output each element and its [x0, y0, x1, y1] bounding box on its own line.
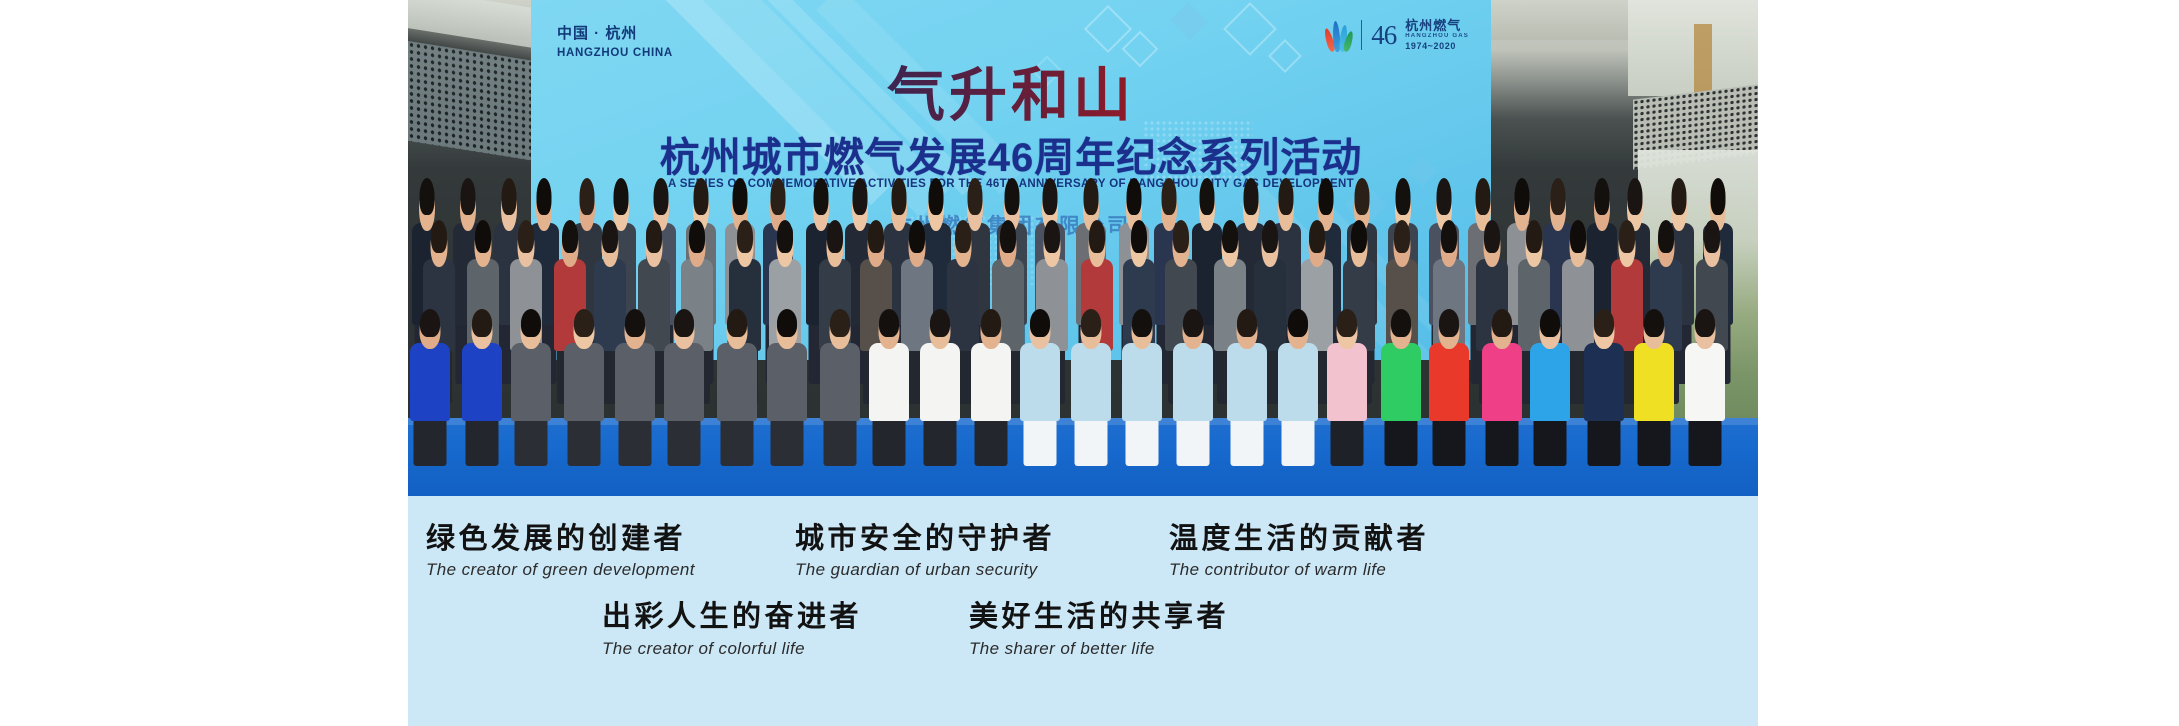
person-torso [1530, 343, 1570, 421]
person [1122, 316, 1162, 466]
person [1482, 316, 1522, 466]
person-hair [1540, 309, 1560, 337]
person-torso [1122, 343, 1162, 421]
person [1530, 316, 1570, 466]
person-torso [1584, 343, 1624, 421]
person-legs [823, 415, 856, 466]
person-legs [924, 415, 957, 466]
person-legs [1384, 415, 1417, 466]
person [920, 316, 960, 466]
person-legs [873, 415, 906, 466]
person-hair [431, 220, 447, 253]
person-hair [1710, 178, 1725, 215]
person-hair [1644, 309, 1664, 337]
deco-square [1170, 2, 1208, 40]
person-legs [1588, 415, 1621, 466]
person-hair [1391, 309, 1411, 337]
person-hair [733, 178, 748, 215]
person-hair [737, 220, 753, 253]
person [1278, 316, 1318, 466]
person-legs [619, 415, 652, 466]
person-torso [1429, 343, 1469, 421]
person-hair [614, 178, 629, 215]
person [1327, 316, 1367, 466]
person-torso [1173, 343, 1213, 421]
banner-location-cn: 中国 · 杭州 [557, 24, 673, 44]
person-hair [1492, 309, 1512, 337]
person-hair [968, 178, 983, 215]
slogan-row-1: 绿色发展的创建者 The creator of green developmen… [408, 496, 1758, 580]
person-legs [515, 415, 548, 466]
person [1381, 316, 1421, 466]
person-legs [1177, 415, 1210, 466]
slogan-cn: 绿色发展的创建者 [426, 522, 776, 555]
slogan-cn: 出彩人生的奋进者 [602, 600, 947, 633]
person-hair [420, 178, 435, 215]
person-hair [1672, 178, 1687, 215]
person-legs [1688, 415, 1721, 466]
slogan-item: 美好生活的共享者 The sharer of better life [969, 600, 1309, 658]
person-torso [564, 343, 604, 421]
person-hair [693, 178, 708, 215]
poster-content: 中国 · 杭州 HANGZHOU CHINA 46 杭州燃气 HANGZHOU … [408, 0, 1758, 726]
person-legs [974, 415, 1007, 466]
person-hair [1278, 178, 1293, 215]
person-hair [602, 220, 618, 253]
person [1227, 316, 1267, 466]
person-torso [1482, 343, 1522, 421]
person-hair [827, 220, 843, 253]
slogan-en: The creator of colorful life [602, 639, 947, 659]
person-hair [1161, 178, 1176, 215]
person-torso [869, 343, 909, 421]
person-hair [579, 178, 594, 215]
person-hair [1173, 220, 1189, 253]
person-hair [1594, 309, 1614, 337]
person-legs [771, 415, 804, 466]
person-hair [1619, 220, 1635, 253]
person-hair [853, 178, 868, 215]
person-hair [777, 220, 793, 253]
person-hair [892, 178, 907, 215]
person-hair [1132, 309, 1152, 337]
person-hair [1441, 220, 1457, 253]
person-legs [466, 415, 499, 466]
person-hair [868, 220, 884, 253]
logo-divider [1361, 20, 1362, 50]
person-hair [1337, 309, 1357, 337]
person-hair [420, 309, 440, 337]
person-hair [1439, 309, 1459, 337]
crowd [408, 156, 1758, 496]
person-hair [1570, 220, 1586, 253]
person-torso [1071, 343, 1111, 421]
person-torso [615, 343, 655, 421]
poster-canvas: 中国 · 杭州 HANGZHOU CHINA 46 杭州燃气 HANGZHOU … [0, 0, 2179, 726]
person-torso [410, 343, 450, 421]
person-hair [653, 178, 668, 215]
person-hair [1436, 178, 1451, 215]
person-hair [574, 309, 594, 337]
slogan-item: 温度生活的贡献者 The contributor of warm life [1169, 522, 1509, 580]
person-torso [1634, 343, 1674, 421]
person [820, 316, 860, 466]
person-hair [1004, 178, 1019, 215]
person-hair [1394, 220, 1410, 253]
person-hair [646, 220, 662, 253]
person-hair [1526, 220, 1542, 253]
person-hair [1243, 178, 1258, 215]
person-hair [1000, 220, 1016, 253]
person-legs [1486, 415, 1519, 466]
person-hair [1515, 178, 1530, 215]
person-hair [1089, 220, 1105, 253]
person-hair [1222, 220, 1238, 253]
person-hair [674, 309, 694, 337]
person-hair [1044, 220, 1060, 253]
person [1173, 316, 1213, 466]
person-hair [1395, 178, 1410, 215]
person-hair [518, 220, 534, 253]
person [971, 316, 1011, 466]
person-hair [1704, 220, 1720, 253]
person-legs [1433, 415, 1466, 466]
slogan-item: 出彩人生的奋进者 The creator of colorful life [602, 600, 947, 658]
person [1634, 316, 1674, 466]
person-hair [536, 178, 551, 215]
slogan-panel: 绿色发展的创建者 The creator of green developmen… [408, 496, 1758, 726]
person [1429, 316, 1469, 466]
person-legs [1330, 415, 1363, 466]
slogan-item: 城市安全的守护者 The guardian of urban security [795, 522, 1139, 580]
person-hair [1484, 220, 1500, 253]
person [1071, 316, 1111, 466]
person-hair [813, 178, 828, 215]
anniversary-number: 46 [1371, 22, 1396, 49]
person-hair [1309, 220, 1325, 253]
person-torso [717, 343, 757, 421]
slogan-row-2: 出彩人生的奋进者 The creator of colorful life 美好… [408, 580, 1758, 658]
person-hair [830, 309, 850, 337]
company-name-cn: 杭州燃气 [1405, 18, 1469, 33]
person-hair [1594, 178, 1609, 215]
person-legs [721, 415, 754, 466]
slogan-en: The contributor of warm life [1169, 560, 1509, 580]
person-legs [1024, 415, 1057, 466]
person-legs [414, 415, 447, 466]
person-legs [1534, 415, 1567, 466]
person-hair [689, 220, 705, 253]
person-hair [777, 309, 797, 337]
person [1020, 316, 1060, 466]
person-hair [1475, 178, 1490, 215]
person-hair [562, 220, 578, 253]
person-hair [909, 220, 925, 253]
company-name-en: HANGZHOU GAS [1405, 33, 1469, 40]
person-hair [502, 178, 517, 215]
person-hair [727, 309, 747, 337]
person-hair [1126, 178, 1141, 215]
person-hair [1083, 178, 1098, 215]
person-hair [461, 178, 476, 215]
person-hair [1030, 309, 1050, 337]
artistic-title: 气升和山 [531, 48, 1491, 132]
person-hair [879, 309, 899, 337]
person-torso [1278, 343, 1318, 421]
person-legs [568, 415, 601, 466]
person [664, 316, 704, 466]
person-torso [1227, 343, 1267, 421]
person-hair [1551, 178, 1566, 215]
person [615, 316, 655, 466]
person-hair [930, 309, 950, 337]
logo-wordmark: 杭州燃气 HANGZHOU GAS 1974~2020 [1405, 18, 1469, 52]
company-logo: 46 杭州燃气 HANGZHOU GAS 1974~2020 [1326, 18, 1469, 52]
slogan-cn: 城市安全的守护者 [795, 522, 1139, 555]
person-hair [928, 178, 943, 215]
person-hair [1262, 220, 1278, 253]
venue-wood-column [1694, 24, 1712, 98]
person-torso [462, 343, 502, 421]
person-hair [955, 220, 971, 253]
person [1584, 316, 1624, 466]
person-hair [771, 178, 786, 215]
person-hair [1183, 309, 1203, 337]
person-hair [475, 220, 491, 253]
person [511, 316, 551, 466]
person [767, 316, 807, 466]
person-hair [1628, 178, 1643, 215]
person-hair [625, 309, 645, 337]
person-hair [981, 309, 1001, 337]
person-hair [1081, 309, 1101, 337]
person-hair [1131, 220, 1147, 253]
person-torso [971, 343, 1011, 421]
person-hair [1237, 309, 1257, 337]
person-torso [1685, 343, 1725, 421]
person-legs [668, 415, 701, 466]
person [717, 316, 757, 466]
slogan-cn: 温度生活的贡献者 [1169, 522, 1509, 555]
person-legs [1126, 415, 1159, 466]
person-hair [472, 309, 492, 337]
slogan-en: The creator of green development [426, 560, 776, 580]
person-hair [1658, 220, 1674, 253]
flame-icon [1326, 18, 1352, 52]
person-legs [1230, 415, 1263, 466]
slogan-cn: 美好生活的共享者 [969, 600, 1309, 633]
person-hair [1351, 220, 1367, 253]
person [564, 316, 604, 466]
person-hair [1695, 309, 1715, 337]
venue-upper-wall-right [1628, 0, 1758, 96]
person-legs [1075, 415, 1108, 466]
person-torso [1020, 343, 1060, 421]
person-torso [820, 343, 860, 421]
person-torso [767, 343, 807, 421]
person-torso [511, 343, 551, 421]
slogan-en: The guardian of urban security [795, 560, 1139, 580]
slogan-item: 绿色发展的创建者 The creator of green developmen… [426, 522, 776, 580]
person-hair [1355, 178, 1370, 215]
person-hair [1200, 178, 1215, 215]
person-hair [521, 309, 541, 337]
person-torso [664, 343, 704, 421]
person-legs [1282, 415, 1315, 466]
person [1685, 316, 1725, 466]
person-legs [1638, 415, 1671, 466]
group-photo: 中国 · 杭州 HANGZHOU CHINA 46 杭州燃气 HANGZHOU … [408, 0, 1758, 496]
person-torso [920, 343, 960, 421]
person-torso [1327, 343, 1367, 421]
person-hair [1043, 178, 1058, 215]
person-hair [1318, 178, 1333, 215]
person-torso [1381, 343, 1421, 421]
slogan-en: The sharer of better life [969, 639, 1309, 659]
person [869, 316, 909, 466]
person [462, 316, 502, 466]
person [410, 316, 450, 466]
person-hair [1288, 309, 1308, 337]
